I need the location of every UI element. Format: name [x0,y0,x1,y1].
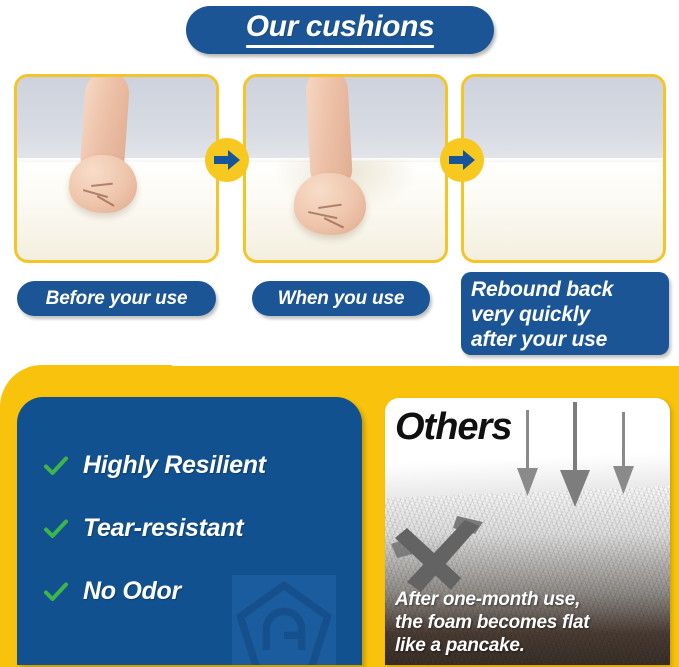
check-icon [43,516,69,542]
arrow-right-icon [448,149,476,171]
check-icon [43,453,69,479]
foam-slab-restored [464,158,663,260]
when-use-photo [243,74,448,263]
feature-label: Tear-resistant [83,514,243,543]
page-title-inner: Our cushions [240,12,441,48]
forearm [305,74,353,188]
rebound-photo [461,74,666,263]
others-caption: After one-month use, the foam becomes fl… [395,588,664,657]
label-rebound-line-3: after your use [471,327,607,352]
arrow-down-icon [560,402,590,507]
pressure-arrows-group [505,402,655,522]
our-cushion-feature-card: Highly Resilient Tear-resistant No Odor [17,397,362,665]
label-before-your-use: Before your use [17,281,216,316]
check-icon [43,579,69,605]
others-comparison-card: Others After one-mon [385,398,670,665]
title-underline [246,45,435,48]
foam-top-edge [464,158,663,162]
pentagon-logo-watermark-icon [232,575,336,665]
label-rebound-line-1: Rebound back [471,277,613,302]
others-caption-line-2: the foam becomes flat [395,611,664,634]
before-use-photo [14,74,219,263]
label-rebound-back: Rebound back very quickly after your use [461,272,669,355]
feature-label: No Odor [83,577,181,606]
others-caption-line-3: like a pancake. [395,634,664,657]
fist [294,173,366,235]
label-before-text: Before your use [46,288,188,310]
step-arrow-badge-1 [205,138,249,182]
step-arrow-badge-2 [440,138,484,182]
before-use-scene [17,77,216,260]
feature-item: Tear-resistant [43,500,352,557]
feature-label: Highly Resilient [83,451,266,480]
x-cross-brush-icon [387,482,527,602]
infographic-page: Our cushions [0,0,679,667]
others-caption-line-1: After one-month use, [395,588,664,611]
feature-item: Highly Resilient [43,437,352,494]
label-when-text: When you use [278,288,404,310]
arrow-right-icon [213,149,241,171]
others-title: Others [395,406,511,449]
page-title-banner: Our cushions [186,6,494,54]
label-when-you-use: When you use [252,281,430,316]
page-title: Our cushions [246,12,435,42]
background-wall [464,77,663,161]
when-use-scene [246,77,445,260]
rebound-scene [464,77,663,260]
arrow-down-icon [613,412,634,494]
label-rebound-line-2: very quickly [471,302,590,327]
